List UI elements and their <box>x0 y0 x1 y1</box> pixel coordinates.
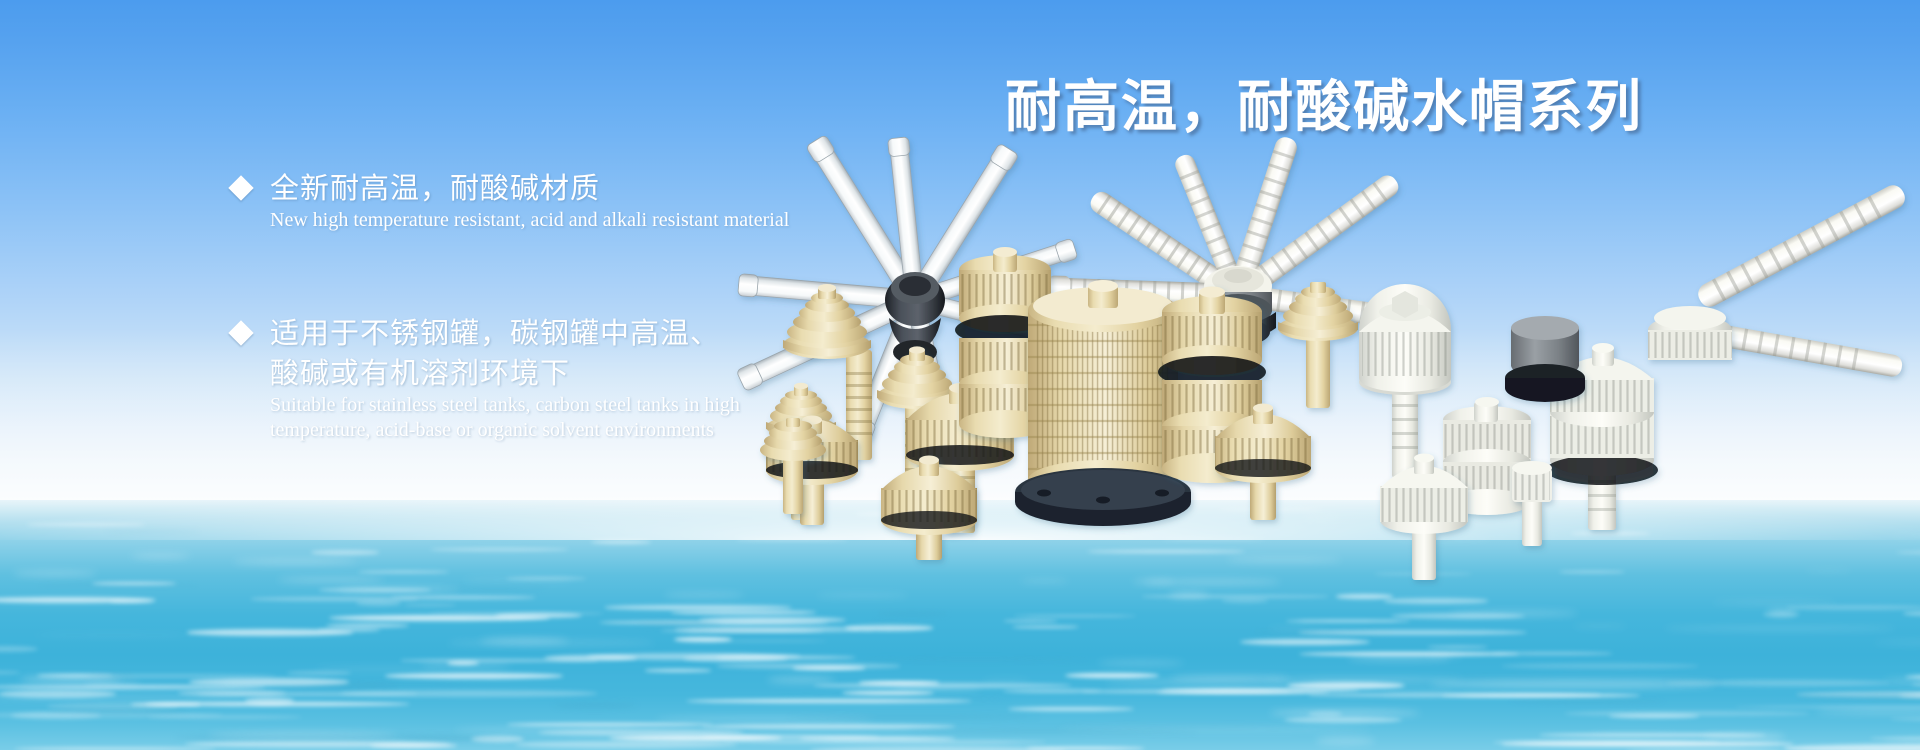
bullet-item-1: 全新耐高温，耐酸碱材质 New high temperature resista… <box>232 168 789 233</box>
bullet-item-2: 适用于不锈钢罐，碳钢罐中高温、 酸碱或有机溶剂环境下 Suitable for … <box>232 313 740 443</box>
bullet-1-cn-line1: 全新耐高温，耐酸碱材质 <box>270 168 600 208</box>
bullet-1-en-line1: New high temperature resistant, acid and… <box>270 208 789 233</box>
bullet-2-cn-line1: 适用于不锈钢罐，碳钢罐中高温、 <box>270 313 720 353</box>
diamond-bullet-icon <box>228 320 253 345</box>
white-strainer-cluster <box>1359 284 1658 580</box>
bullet-2-cn-line2: 酸碱或有机溶剂环境下 <box>270 353 740 393</box>
white-cap-far-right <box>1648 306 1732 360</box>
bullet-2-headline-row: 适用于不锈钢罐，碳钢罐中高温、 <box>232 313 740 353</box>
bullet-1-headline-row: 全新耐高温，耐酸碱材质 <box>232 168 789 208</box>
bullet-2-en-line1: Suitable for stainless steel tanks, carb… <box>270 393 740 418</box>
page-title: 耐高温，耐酸碱水帽系列 <box>1005 62 1643 143</box>
product-banner: 耐高温，耐酸碱水帽系列 全新耐高温，耐酸碱材质 New high tempera… <box>0 0 1920 750</box>
bullet-2-en-line2: temperature, acid-base or organic solven… <box>270 418 740 443</box>
diamond-bullet-icon <box>228 175 253 200</box>
